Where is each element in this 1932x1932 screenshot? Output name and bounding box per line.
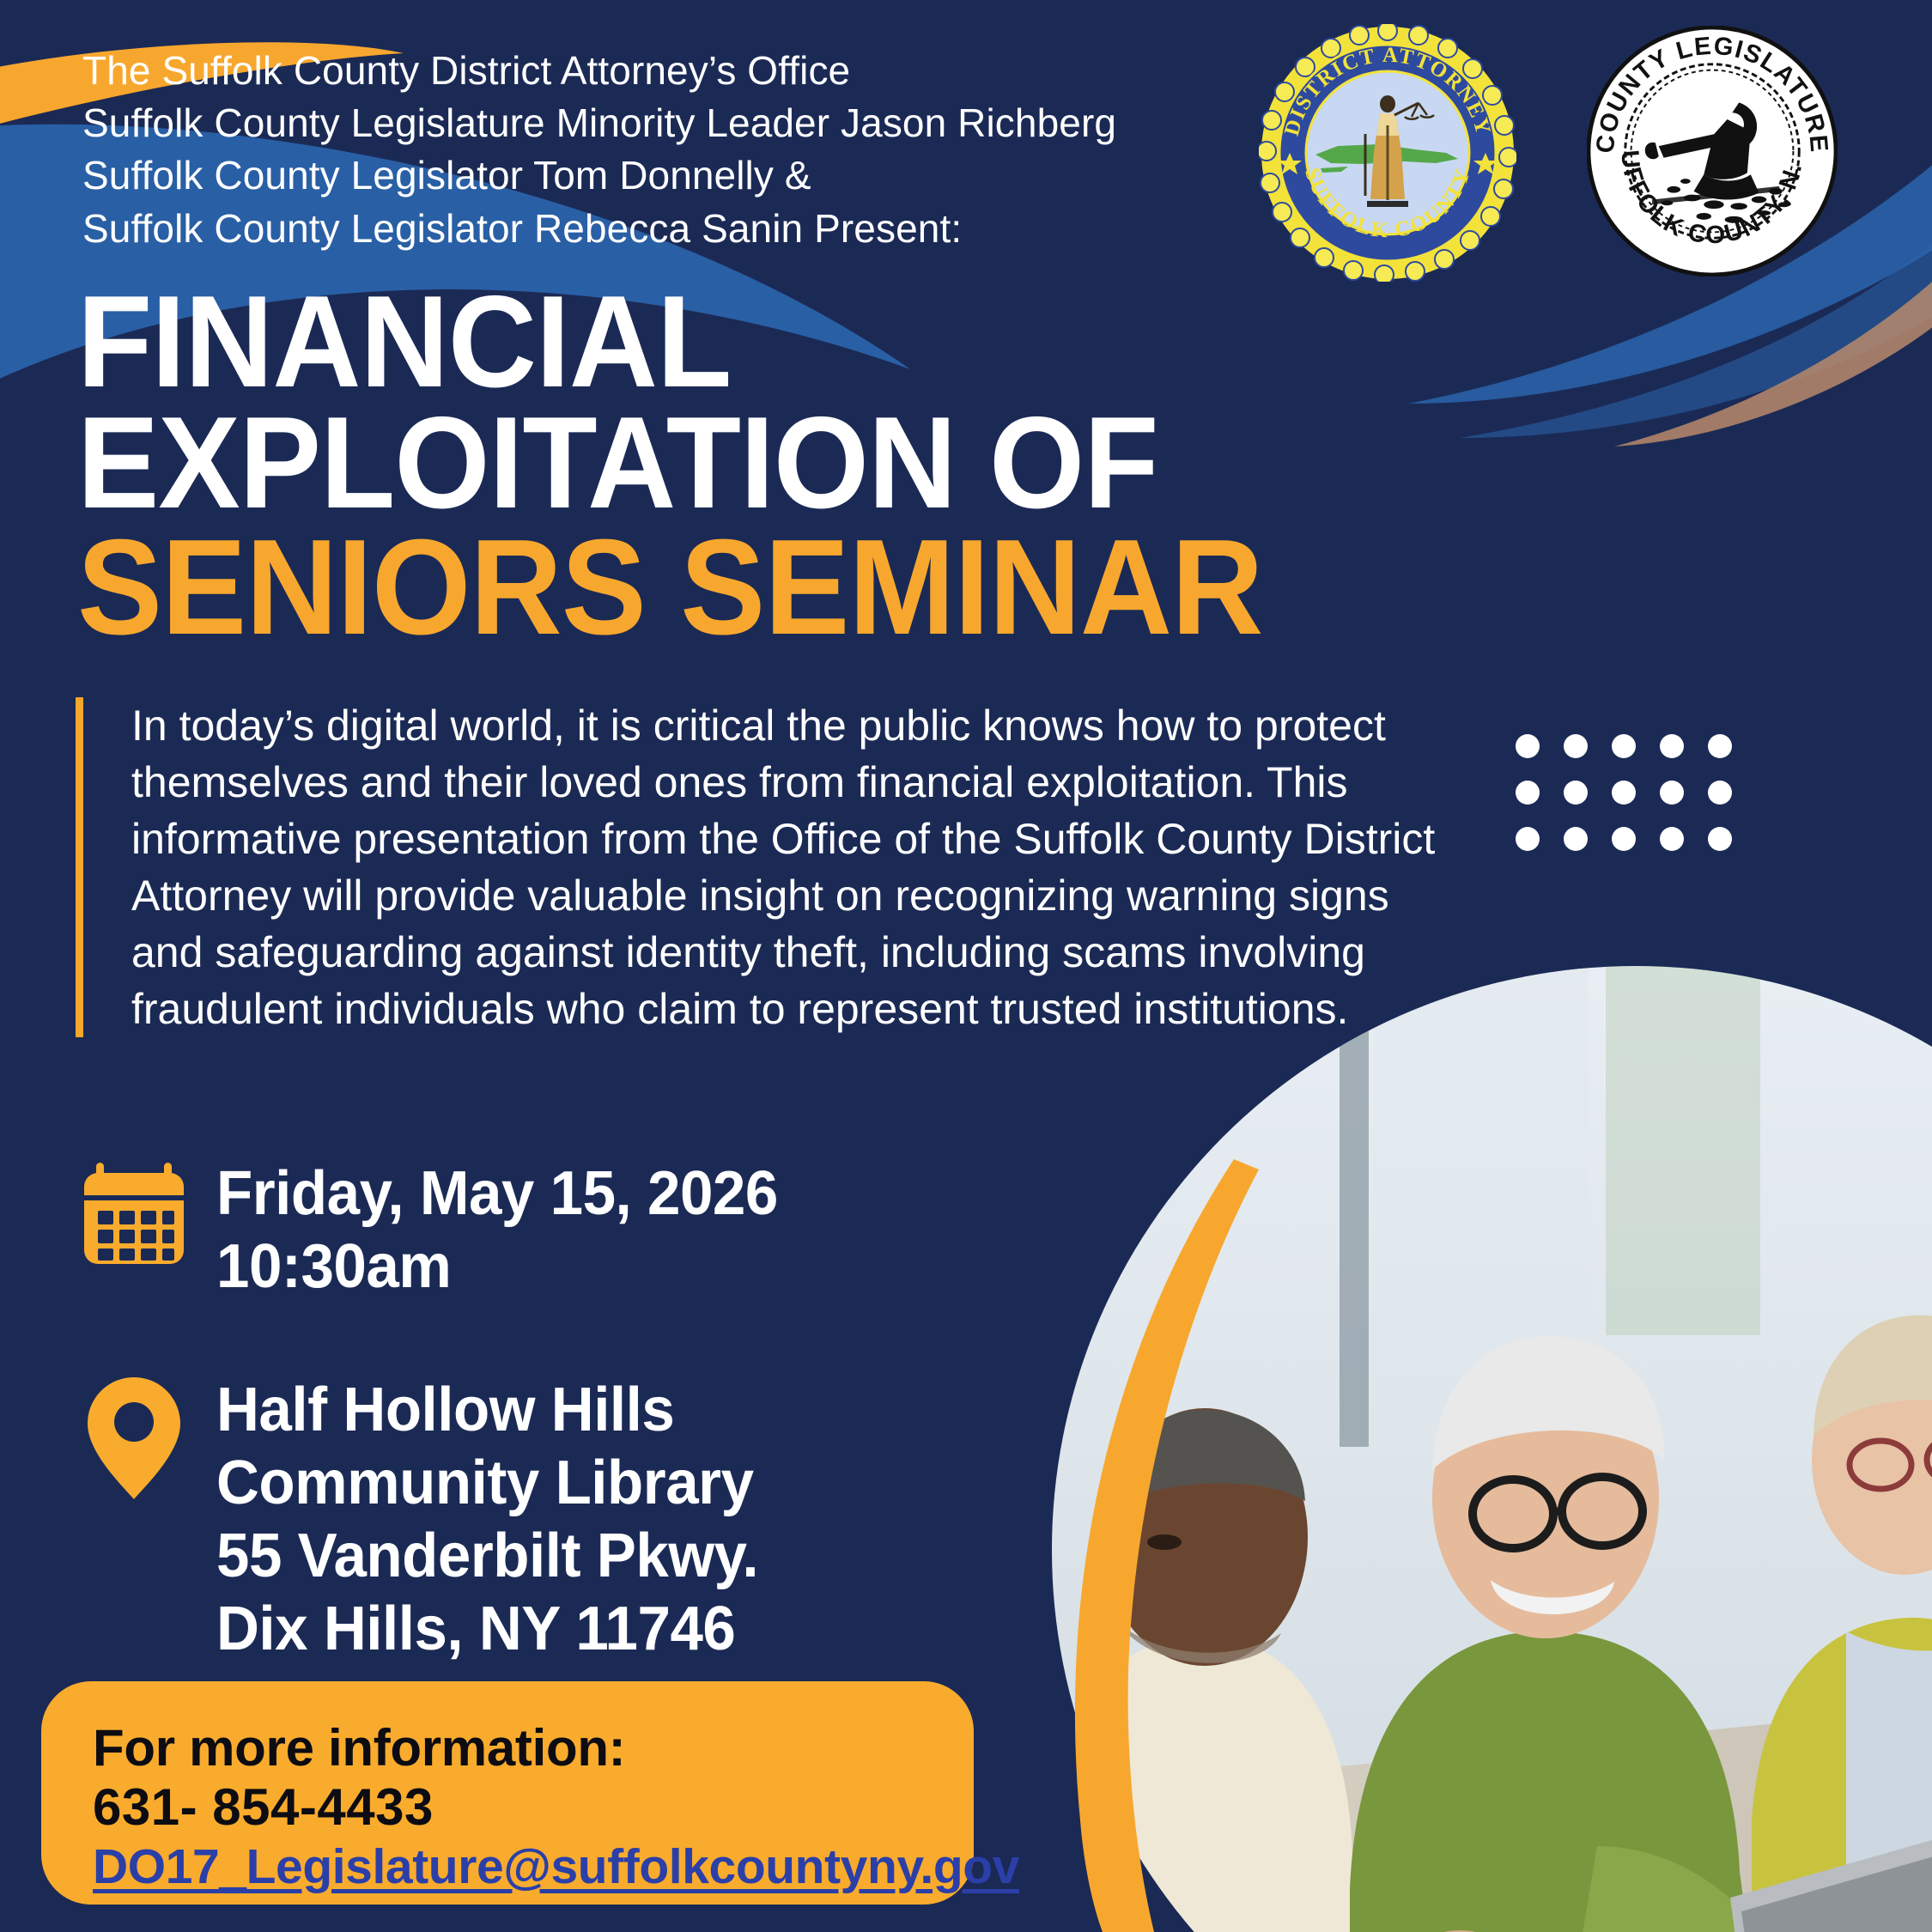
- address-line-2: Dix Hills, NY 11746: [216, 1593, 758, 1666]
- dot: [1660, 734, 1684, 758]
- seniors-photo: [1039, 966, 1932, 1932]
- description-paragraph: In today’s digital world, it is critical…: [131, 697, 1454, 1037]
- presenter-line-4: Suffolk County Legislator Rebecca Sanin …: [82, 203, 1285, 255]
- event-time: 10:30am: [216, 1230, 778, 1303]
- dot: [1660, 827, 1684, 851]
- calendar-icon: [82, 1157, 185, 1267]
- map-pin-icon-wrap: [82, 1374, 194, 1507]
- event-location-row: Half Hollow Hills Community Library 55 V…: [82, 1374, 781, 1666]
- presenter-line-3: Suffolk County Legislator Tom Donnelly &: [82, 149, 1285, 202]
- dot: [1516, 734, 1540, 758]
- contact-panel: For more information: 631- 854-4433 DO17…: [41, 1681, 974, 1905]
- page-title: FINANCIAL EXPLOITATION OF SENIORS SEMINA…: [77, 282, 1580, 651]
- dot: [1612, 781, 1636, 805]
- dot: [1516, 827, 1540, 851]
- dot: [1708, 734, 1732, 758]
- dot: [1708, 781, 1732, 805]
- description-block: In today’s digital world, it is critical…: [76, 697, 1467, 1037]
- dot: [1564, 734, 1588, 758]
- venue-line-1: Half Hollow Hills: [216, 1374, 758, 1447]
- contact-heading: For more information:: [93, 1719, 974, 1777]
- title-line-2: EXPLOITATION OF: [77, 403, 1490, 524]
- description-text: In today’s digital world, it is critical…: [131, 697, 1454, 1037]
- event-date: Friday, May 15, 2026: [216, 1157, 778, 1230]
- county-legislature-seal-icon: COUNTY LEGISLATURE SUFFOLK COUNTY, N. Y.: [1587, 26, 1838, 276]
- event-date-row: Friday, May 15, 2026 10:30am: [82, 1157, 801, 1303]
- dot: [1564, 827, 1588, 851]
- title-line-3: SENIORS SEMINAR: [77, 525, 1490, 651]
- dot: [1612, 827, 1636, 851]
- dot: [1708, 827, 1732, 851]
- dot: [1660, 781, 1684, 805]
- event-location-text: Half Hollow Hills Community Library 55 V…: [216, 1374, 758, 1666]
- flyer-page: The Suffolk County District Attorney’s O…: [0, 0, 1932, 1932]
- dot: [1564, 781, 1588, 805]
- contact-email-link[interactable]: DO17_Legislature@suffolkcountyny.gov: [93, 1838, 1019, 1896]
- presenter-line-1: The Suffolk County District Attorney’s O…: [82, 45, 1285, 97]
- venue-line-2: Community Library: [216, 1447, 758, 1520]
- district-attorney-seal-icon: DISTRICT ATTORNEY SUFFOLK COUNTY: [1259, 24, 1516, 282]
- dot: [1516, 781, 1540, 805]
- accent-bar: [76, 697, 83, 1037]
- dot-grid-decoration: [1516, 734, 1756, 873]
- address-line-1: 55 Vanderbilt Pkwy.: [216, 1520, 758, 1593]
- map-pin-icon: [82, 1374, 185, 1503]
- contact-phone[interactable]: 631- 854-4433: [93, 1777, 974, 1838]
- dot: [1612, 734, 1636, 758]
- calendar-icon-wrap: [82, 1157, 194, 1272]
- event-date-text: Friday, May 15, 2026 10:30am: [216, 1157, 778, 1303]
- presenter-list: The Suffolk County District Attorney’s O…: [82, 45, 1285, 255]
- title-line-1: FINANCIAL: [77, 282, 1490, 403]
- presenter-line-2: Suffolk County Legislature Minority Lead…: [82, 97, 1285, 149]
